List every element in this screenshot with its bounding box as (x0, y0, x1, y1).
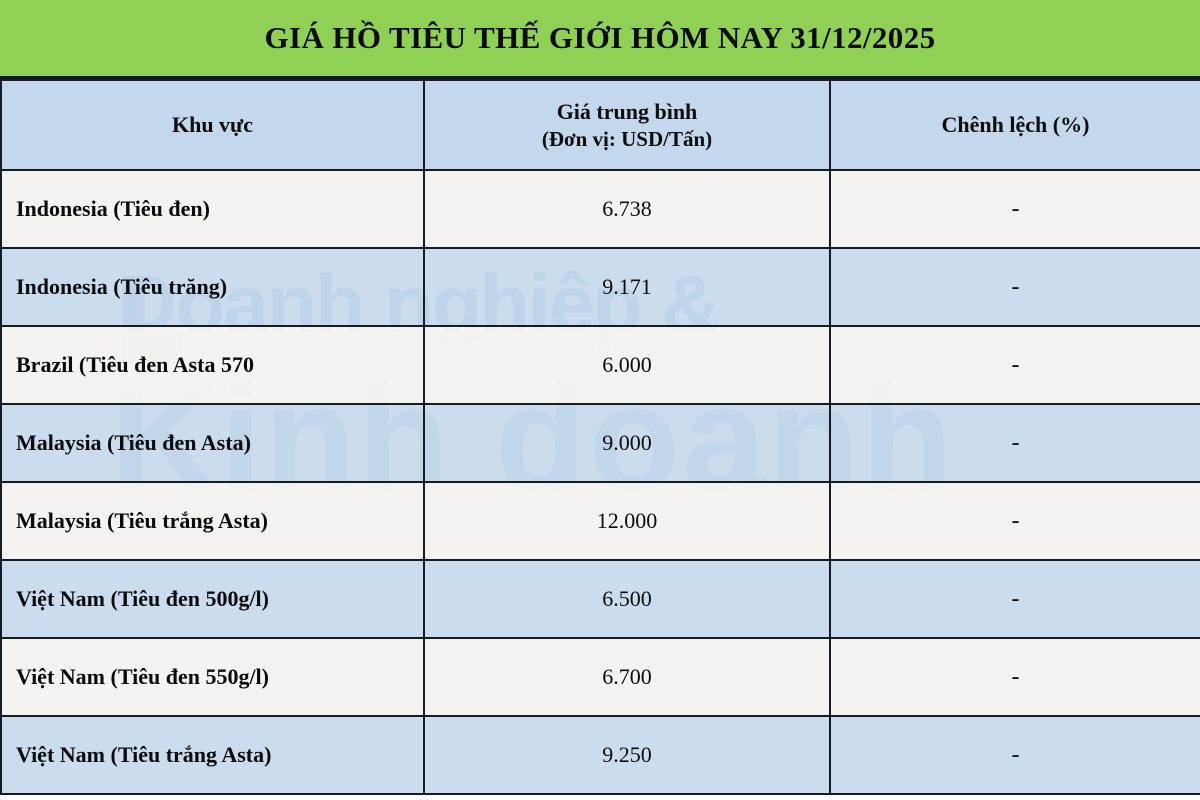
table-header-row: Khu vực Giá trung bình (Đơn vị: USD/Tấn)… (1, 80, 1200, 170)
cell-change: - (830, 560, 1200, 638)
cell-price: 6.738 (424, 170, 830, 248)
table-row: Indonesia (Tiêu đen) 6.738 - (1, 170, 1200, 248)
cell-change: - (830, 638, 1200, 716)
table-row: Malaysia (Tiêu đen Asta) 9.000 - (1, 404, 1200, 482)
table-row: Việt Nam (Tiêu đen 500g/l) 6.500 - (1, 560, 1200, 638)
cell-region: Việt Nam (Tiêu trắng Asta) (1, 716, 424, 794)
table-row: Việt Nam (Tiêu đen 550g/l) 6.700 - (1, 638, 1200, 716)
cell-region: Brazil (Tiêu đen Asta 570 (1, 326, 424, 404)
column-header-price-main: Giá trung bình (557, 99, 698, 124)
table-header: Khu vực Giá trung bình (Đơn vị: USD/Tấn)… (1, 80, 1200, 170)
page-title: GIÁ HỒ TIÊU THẾ GIỚI HÔM NAY 31/12/2025 (264, 20, 935, 56)
column-header-change: Chênh lệch (%) (830, 80, 1200, 170)
table-row: Malaysia (Tiêu trắng Asta) 12.000 - (1, 482, 1200, 560)
cell-price: 6.500 (424, 560, 830, 638)
cell-change: - (830, 404, 1200, 482)
table-row: Brazil (Tiêu đen Asta 570 6.000 - (1, 326, 1200, 404)
column-header-price-unit: (Đơn vị: USD/Tấn) (439, 126, 815, 154)
table-row: Việt Nam (Tiêu trắng Asta) 9.250 - (1, 716, 1200, 794)
cell-region: Indonesia (Tiêu đen) (1, 170, 424, 248)
pepper-price-table-page: Doanh nghiệp & Kinh doanh GIÁ HỒ TIÊU TH… (0, 0, 1200, 800)
cell-price: 9.250 (424, 716, 830, 794)
table-row: Indonesia (Tiêu trăng) 9.171 - (1, 248, 1200, 326)
cell-region: Việt Nam (Tiêu đen 550g/l) (1, 638, 424, 716)
cell-region: Indonesia (Tiêu trăng) (1, 248, 424, 326)
cell-region: Việt Nam (Tiêu đen 500g/l) (1, 560, 424, 638)
cell-price: 6.000 (424, 326, 830, 404)
cell-change: - (830, 170, 1200, 248)
cell-change: - (830, 716, 1200, 794)
cell-region: Malaysia (Tiêu đen Asta) (1, 404, 424, 482)
cell-price: 9.171 (424, 248, 830, 326)
column-header-price: Giá trung bình (Đơn vị: USD/Tấn) (424, 80, 830, 170)
world-pepper-price-table: Khu vực Giá trung bình (Đơn vị: USD/Tấn)… (0, 79, 1200, 795)
cell-price: 12.000 (424, 482, 830, 560)
cell-change: - (830, 482, 1200, 560)
cell-region: Malaysia (Tiêu trắng Asta) (1, 482, 424, 560)
table-body: Indonesia (Tiêu đen) 6.738 - Indonesia (… (1, 170, 1200, 794)
title-banner: GIÁ HỒ TIÊU THẾ GIỚI HÔM NAY 31/12/2025 (0, 0, 1200, 79)
cell-change: - (830, 326, 1200, 404)
cell-price: 9.000 (424, 404, 830, 482)
cell-change: - (830, 248, 1200, 326)
cell-price: 6.700 (424, 638, 830, 716)
column-header-region: Khu vực (1, 80, 424, 170)
